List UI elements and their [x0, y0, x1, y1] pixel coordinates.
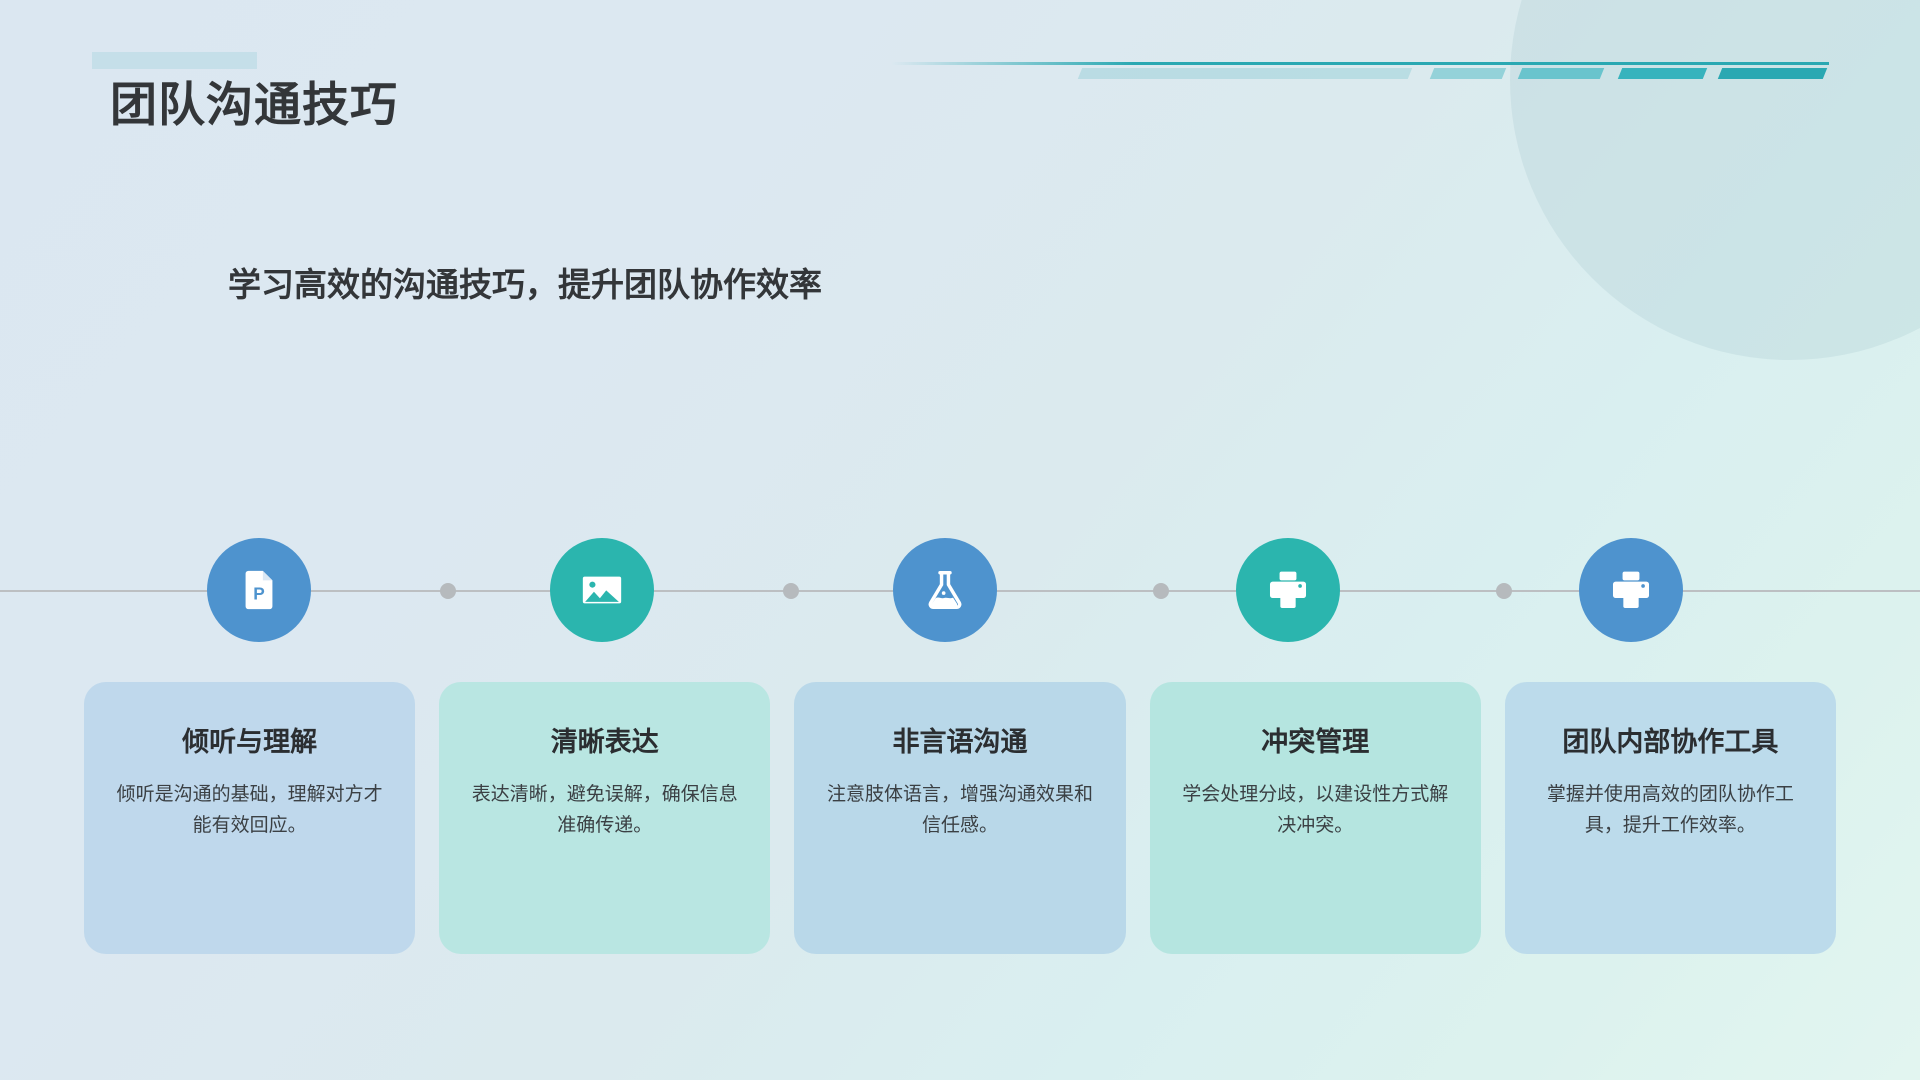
printer-icon [1265, 567, 1311, 613]
presentation-slide: 团队沟通技巧 学习高效的沟通技巧，提升团队协作效率 P [0, 0, 1920, 1080]
decorative-dash-1 [1078, 68, 1412, 79]
printer-icon [1608, 567, 1654, 613]
decorative-dash-3 [1518, 68, 1604, 79]
card-title: 冲突管理 [1178, 726, 1453, 758]
timeline-node-1[interactable]: P [207, 538, 311, 642]
card-description: 注意肢体语言，增强沟通效果和信任感。 [822, 780, 1097, 842]
decorative-dash-4 [1618, 68, 1707, 79]
timeline-node-5[interactable] [1579, 538, 1683, 642]
timeline-connector-dot [440, 583, 456, 599]
image-picture-icon [579, 567, 625, 613]
card-row: 倾听与理解 倾听是沟通的基础，理解对方才能有效回应。 清晰表达 表达清晰，避免误… [84, 682, 1836, 954]
card-description: 学会处理分歧，以建设性方式解决冲突。 [1178, 780, 1453, 842]
card-title: 非言语沟通 [822, 726, 1097, 758]
page-subtitle: 学习高效的沟通技巧，提升团队协作效率 [228, 262, 1088, 309]
timeline-connector-dot [1496, 583, 1512, 599]
card-title: 清晰表达 [467, 726, 742, 758]
decorative-dash-group [1080, 68, 1830, 79]
card-5[interactable]: 团队内部协作工具 掌握并使用高效的团队协作工具，提升工作效率。 [1505, 682, 1836, 954]
card-1[interactable]: 倾听与理解 倾听是沟通的基础，理解对方才能有效回应。 [84, 682, 415, 954]
timeline-connector-dot [783, 583, 799, 599]
timeline-node-3[interactable] [893, 538, 997, 642]
card-3[interactable]: 非言语沟通 注意肢体语言，增强沟通效果和信任感。 [794, 682, 1125, 954]
timeline-node-2[interactable] [550, 538, 654, 642]
card-description: 倾听是沟通的基础，理解对方才能有效回应。 [112, 780, 387, 842]
card-2[interactable]: 清晰表达 表达清晰，避免误解，确保信息准确传递。 [439, 682, 770, 954]
svg-text:P: P [253, 584, 265, 604]
timeline-connector-dot [1153, 583, 1169, 599]
card-4[interactable]: 冲突管理 学会处理分歧，以建设性方式解决冲突。 [1150, 682, 1481, 954]
decorative-dash-2 [1430, 68, 1506, 79]
decorative-circle [1510, 0, 1920, 360]
decorative-dash-5 [1718, 68, 1827, 79]
card-description: 掌握并使用高效的团队协作工具，提升工作效率。 [1533, 780, 1808, 842]
file-presentation-icon: P [236, 567, 282, 613]
decorative-horizontal-rule [92, 62, 1829, 65]
timeline-node-4[interactable] [1236, 538, 1340, 642]
decorative-tab-bar [92, 52, 257, 69]
flask-beaker-icon [922, 567, 968, 613]
card-title: 倾听与理解 [112, 726, 387, 758]
card-title: 团队内部协作工具 [1533, 726, 1808, 758]
card-description: 表达清晰，避免误解，确保信息准确传递。 [467, 780, 742, 842]
page-title: 团队沟通技巧 [110, 78, 398, 132]
